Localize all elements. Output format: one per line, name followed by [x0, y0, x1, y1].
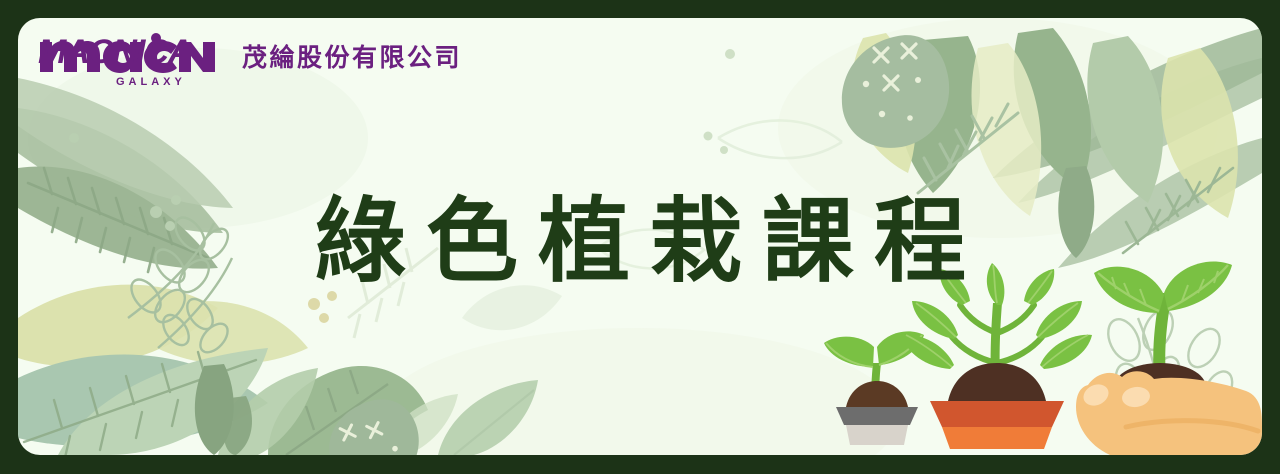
svg-text:GALAXY: GALAXY	[116, 76, 186, 88]
company-name: 茂綸股份有限公司	[242, 46, 462, 71]
banner-root: GALAXY MACNICA 茂綸股份有限公司 綠色植栽課程	[0, 0, 1280, 474]
banner-panel: GALAXY MACNICA 茂綸股份有限公司 綠色植栽課程	[18, 18, 1262, 455]
macnica-wordmark: MACNICA	[38, 34, 224, 70]
brand-lockup: GALAXY MACNICA 茂綸股份有限公司	[38, 32, 462, 88]
macnica-logo-icon: GALAXY MACNICA	[38, 32, 224, 88]
page-title: 綠色植栽課程	[18, 194, 1262, 291]
